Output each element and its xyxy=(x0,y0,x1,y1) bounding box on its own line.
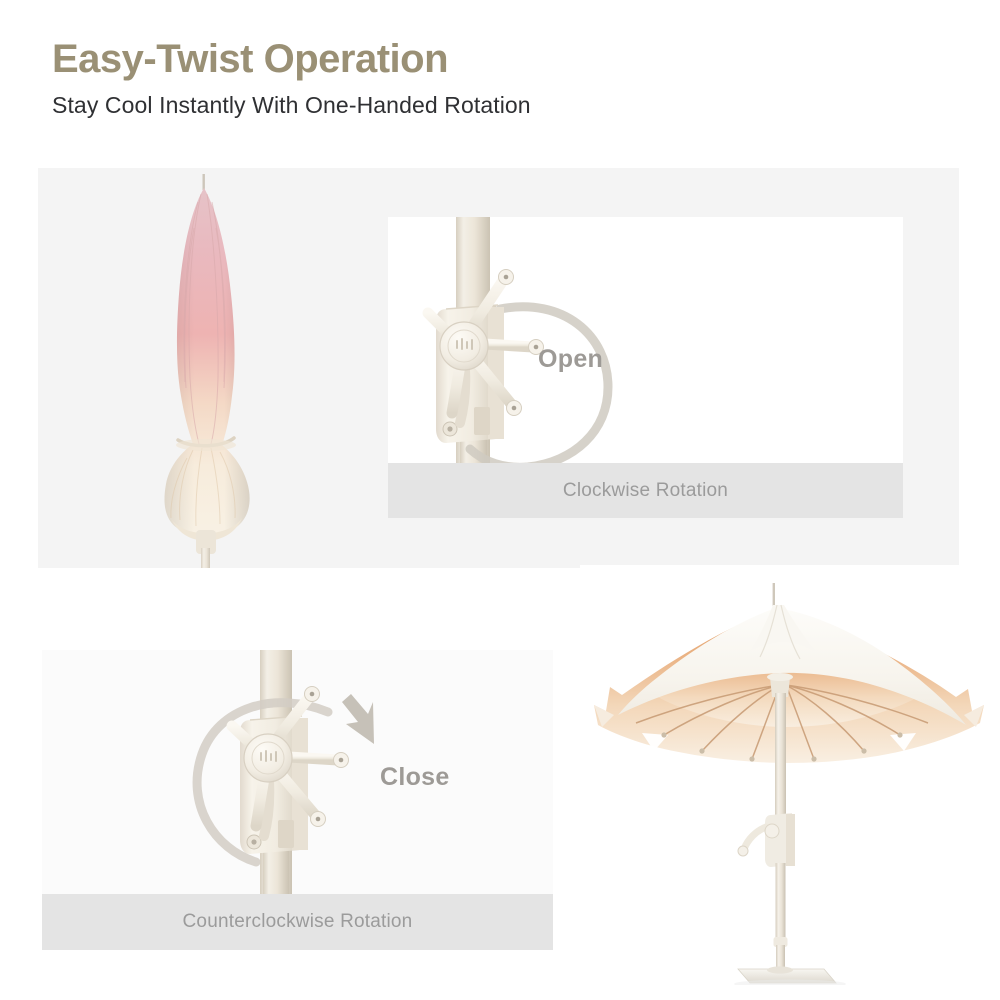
page-subtitle: Stay Cool Instantly With One-Handed Rota… xyxy=(52,92,952,119)
open-umbrella-illustration xyxy=(580,565,1000,985)
rotation-label-open: Open xyxy=(538,345,603,374)
inset-close-mechanism: Close xyxy=(42,650,553,894)
caption-bar-clockwise: Clockwise Rotation xyxy=(388,463,903,518)
header: Easy-Twist Operation Stay Cool Instantly… xyxy=(52,38,952,119)
page-title: Easy-Twist Operation xyxy=(52,38,952,80)
open-umbrella-area xyxy=(580,565,1000,985)
crank-mechanism-close-illustration xyxy=(42,650,553,894)
caption-bar-counterclockwise: Counterclockwise Rotation xyxy=(42,894,553,950)
panel-close-operation: Close Counterclockwise Rotation xyxy=(42,650,553,950)
caption-text-clockwise: Clockwise Rotation xyxy=(563,480,728,502)
caption-text-counterclockwise: Counterclockwise Rotation xyxy=(183,911,413,933)
rotation-label-close: Close xyxy=(380,763,450,792)
panel-open-operation: Open Clockwise Rotation xyxy=(38,168,959,568)
